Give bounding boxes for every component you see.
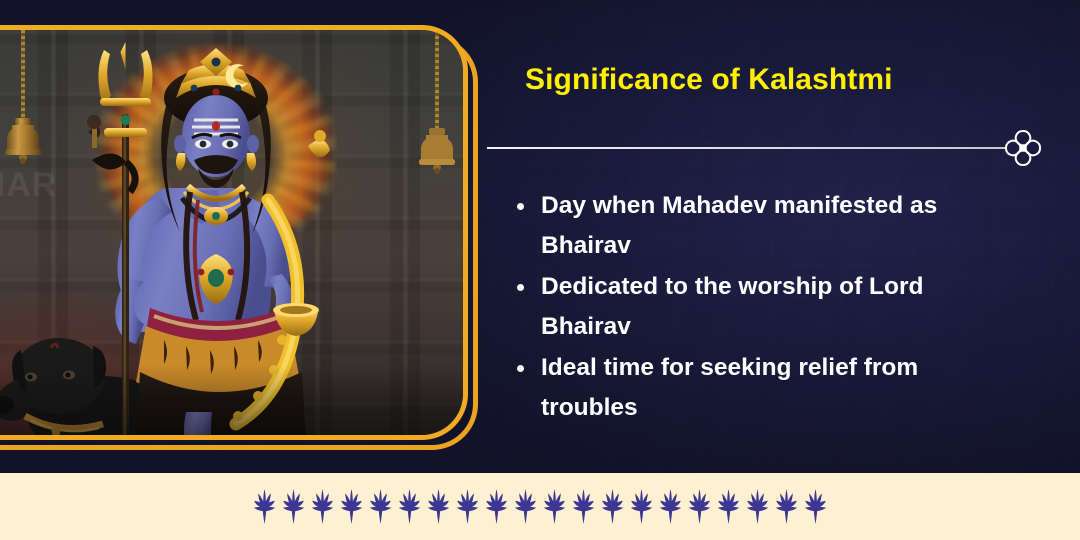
trident-icon [398,489,421,524]
trident-icon [543,489,566,524]
page-title: Significance of Kalashtmi [525,63,893,97]
slide-canvas: SHAR [0,0,1080,540]
trident-icon [746,489,769,524]
bullet-dot-icon [517,203,524,210]
trident-icon [804,489,827,524]
ornament-glyph [1000,125,1046,171]
list-item-label: Dedicated to the worship of Lord Bhairav [541,273,923,340]
trident-icon [456,489,479,524]
quatrefoil-knot-ornament-icon [1000,125,1046,171]
bullet-dot-icon [517,365,524,372]
list-item-label: Ideal time for seeking relief from troub… [541,354,918,421]
trident-icon [369,489,392,524]
significance-bullet-list: Day when Mahadev manifested as Bhairav D… [508,186,1018,429]
damaru-icon [87,115,101,148]
trident-icon [427,489,450,524]
hanging-bell-right [415,30,459,200]
trident-icon [340,489,363,524]
bell-glyph [3,118,43,164]
trident-icon [514,489,537,524]
hanging-bell-icon [3,118,43,164]
hanging-bell-left [1,30,45,190]
trident-icon [775,489,798,524]
footer-strip [0,473,1080,540]
trident-icon [659,489,682,524]
list-item: Dedicated to the worship of Lord Bhairav [508,267,1018,347]
bullet-dot-icon [517,284,524,291]
list-item: Ideal time for seeking relief from troub… [508,348,1018,428]
trident-icon [630,489,653,524]
trident-icon [311,489,334,524]
hanging-bell-icon [417,128,457,174]
bell-chain-icon [21,30,25,122]
trident-icon [572,489,595,524]
trident-icon [282,489,305,524]
list-item-label: Day when Mahadev manifested as Bhairav [541,192,937,259]
artwork-bottom-fade [0,365,463,435]
bell-glyph [417,128,457,174]
trident-decoration-row [0,473,1080,540]
list-item: Day when Mahadev manifested as Bhairav [508,186,1018,266]
trident-icon [717,489,740,524]
trident-icon [485,489,508,524]
trident-icon [98,42,152,137]
bell-chain-icon [435,30,439,132]
divider-rule [487,147,1005,149]
gold-ornament-icon [308,130,330,157]
lord-kala-bhairav-illustration: SHAR [0,30,463,435]
trident-icon [601,489,624,524]
trident-icon [688,489,711,524]
trident-icon [253,489,276,524]
artwork-frame: SHAR [0,25,468,440]
